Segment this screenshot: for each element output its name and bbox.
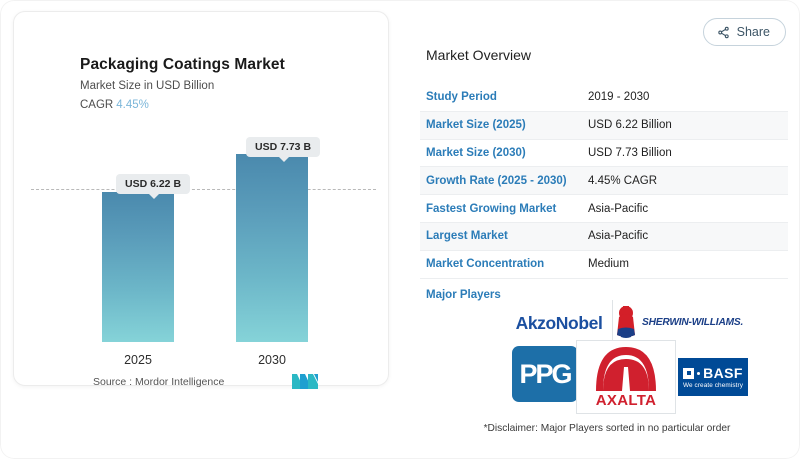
ppg-logo[interactable]: PPG <box>512 346 578 402</box>
bar-2030[interactable] <box>236 154 308 342</box>
basf-top-row: BASF <box>683 365 743 381</box>
basf-logo[interactable]: BASF We create chemistry <box>678 358 748 396</box>
table-row: Market Concentration Medium <box>420 251 788 279</box>
mordor-intelligence-logo <box>292 374 318 389</box>
akzonobel-logo[interactable]: AkzoNobel <box>504 306 614 340</box>
market-report-widget: Packaging Coatings Market Market Size in… <box>0 0 800 459</box>
row-value: USD 7.73 Billion <box>588 147 672 159</box>
row-key: Fastest Growing Market <box>420 203 588 215</box>
row-value: USD 6.22 Billion <box>588 119 672 131</box>
table-row: Market Size (2025) USD 6.22 Billion <box>420 112 788 140</box>
basf-square-icon <box>683 368 694 379</box>
axalta-wordmark: AXALTA <box>596 392 656 409</box>
share-icon <box>717 26 730 39</box>
table-row: Study Period 2019 - 2030 <box>420 84 788 112</box>
row-key: Market Size (2030) <box>420 147 588 159</box>
table-row: Growth Rate (2025 - 2030) 4.45% CAGR <box>420 167 788 195</box>
row-key: Market Size (2025) <box>420 119 588 131</box>
share-button[interactable]: Share <box>703 18 786 46</box>
basf-wordmark: BASF <box>703 365 743 381</box>
basf-tagline: We create chemistry <box>683 382 743 389</box>
row-key: Market Concentration <box>420 258 588 270</box>
row-key: Growth Rate (2025 - 2030) <box>420 175 588 187</box>
bar-value-label-2030: USD 7.73 B <box>246 137 320 157</box>
bar-2025[interactable] <box>102 192 174 342</box>
axalta-arch-icon <box>593 347 659 391</box>
sherwin-williams-can-icon <box>613 305 639 339</box>
basf-dot-icon <box>697 372 700 375</box>
row-value: 2019 - 2030 <box>588 91 649 103</box>
category-label-2030: 2030 <box>236 353 308 367</box>
axalta-logo[interactable]: AXALTA <box>576 340 676 414</box>
sherwin-williams-logo[interactable]: SHERWIN-WILLIAMS. <box>612 300 740 344</box>
reference-dashed-line <box>31 189 376 190</box>
bar-value-label-2025: USD 6.22 B <box>116 174 190 194</box>
row-value: Asia-Pacific <box>588 203 648 215</box>
share-button-label: Share <box>737 25 770 39</box>
bar-chart-plot: USD 6.22 B USD 7.73 B 2025 2030 <box>14 12 390 387</box>
major-players-logos: AkzoNobel SHERWIN-WILLIAMS. PPG AXALTA <box>498 296 750 414</box>
disclaimer-text: *Disclaimer: Major Players sorted in no … <box>422 423 792 434</box>
chart-card: Packaging Coatings Market Market Size in… <box>13 11 389 386</box>
table-row: Market Size (2030) USD 7.73 Billion <box>420 140 788 168</box>
market-overview-table: Study Period 2019 - 2030 Market Size (20… <box>420 84 788 311</box>
row-value: Asia-Pacific <box>588 230 648 242</box>
table-row: Fastest Growing Market Asia-Pacific <box>420 195 788 223</box>
row-key: Study Period <box>420 91 588 103</box>
row-value: Medium <box>588 258 629 270</box>
sherwin-williams-wordmark: SHERWIN-WILLIAMS. <box>642 317 743 328</box>
chart-source: Source : Mordor Intelligence <box>93 376 224 388</box>
table-row: Largest Market Asia-Pacific <box>420 223 788 251</box>
market-overview-title: Market Overview <box>426 47 531 63</box>
row-key: Largest Market <box>420 230 588 242</box>
category-label-2025: 2025 <box>102 353 174 367</box>
row-value: 4.45% CAGR <box>588 175 657 187</box>
